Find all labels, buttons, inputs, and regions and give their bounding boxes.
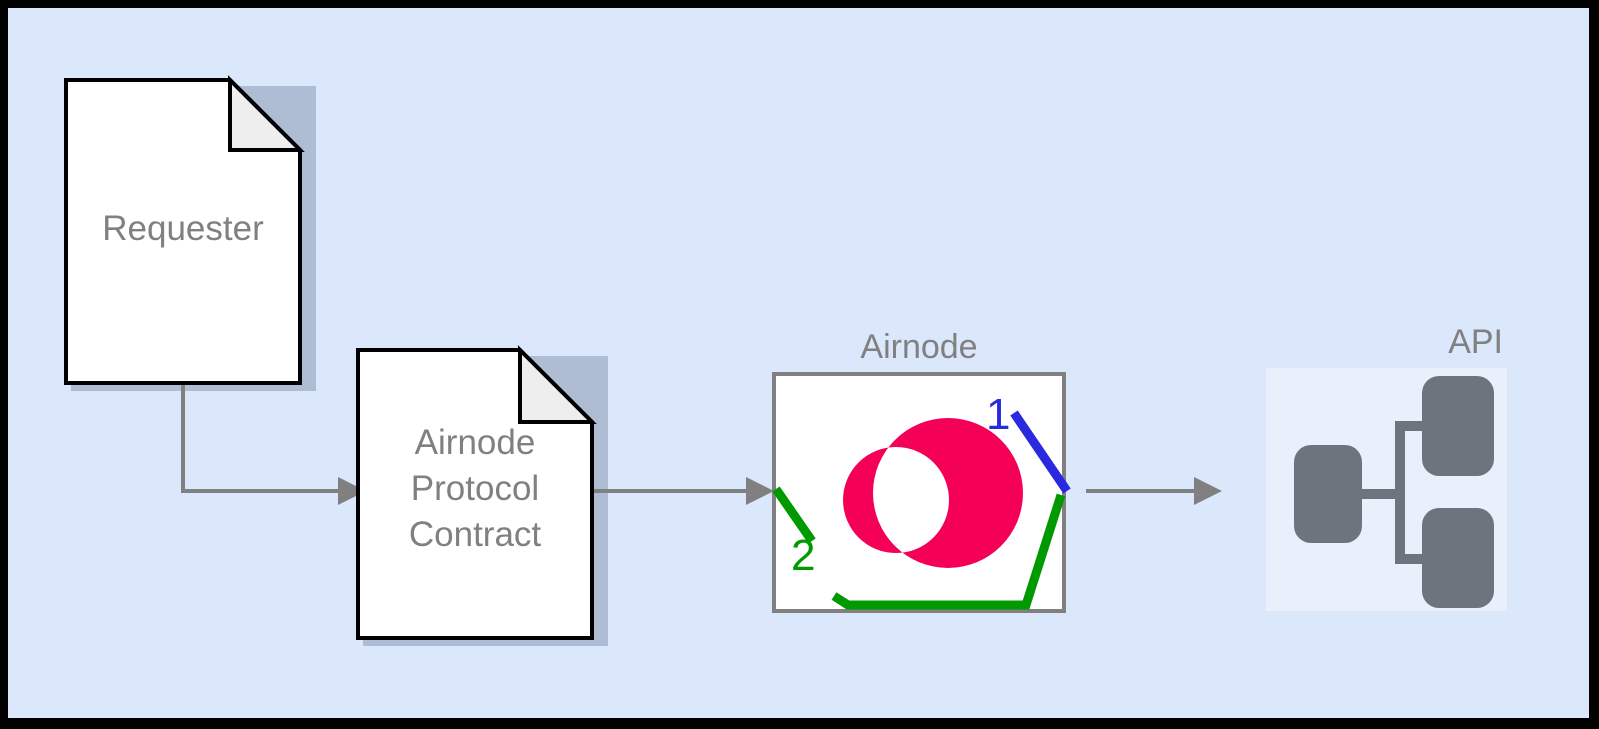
contract-label: AirnodeProtocolContract <box>358 420 592 558</box>
contract-label-line2: Protocol <box>411 469 539 508</box>
contract-label-line1: Airnode <box>415 423 536 462</box>
step-1-number: 1 <box>986 393 1010 437</box>
contract-label-line3: Contract <box>409 515 541 554</box>
step-2-number: 2 <box>791 534 815 578</box>
connector-requester-to-contract <box>183 378 366 505</box>
node-api[interactable] <box>1266 368 1507 611</box>
connector-contract-to-airnode <box>593 477 774 505</box>
diagram-canvas: Requester AirnodeProtocolContract Airnod… <box>8 8 1589 718</box>
diagram-graphics <box>8 8 1589 718</box>
image-frame: Requester AirnodeProtocolContract Airnod… <box>0 0 1599 729</box>
node-airnode[interactable] <box>774 374 1067 611</box>
connector-airnode-to-api <box>1086 477 1222 505</box>
requester-label: Requester <box>66 206 300 252</box>
